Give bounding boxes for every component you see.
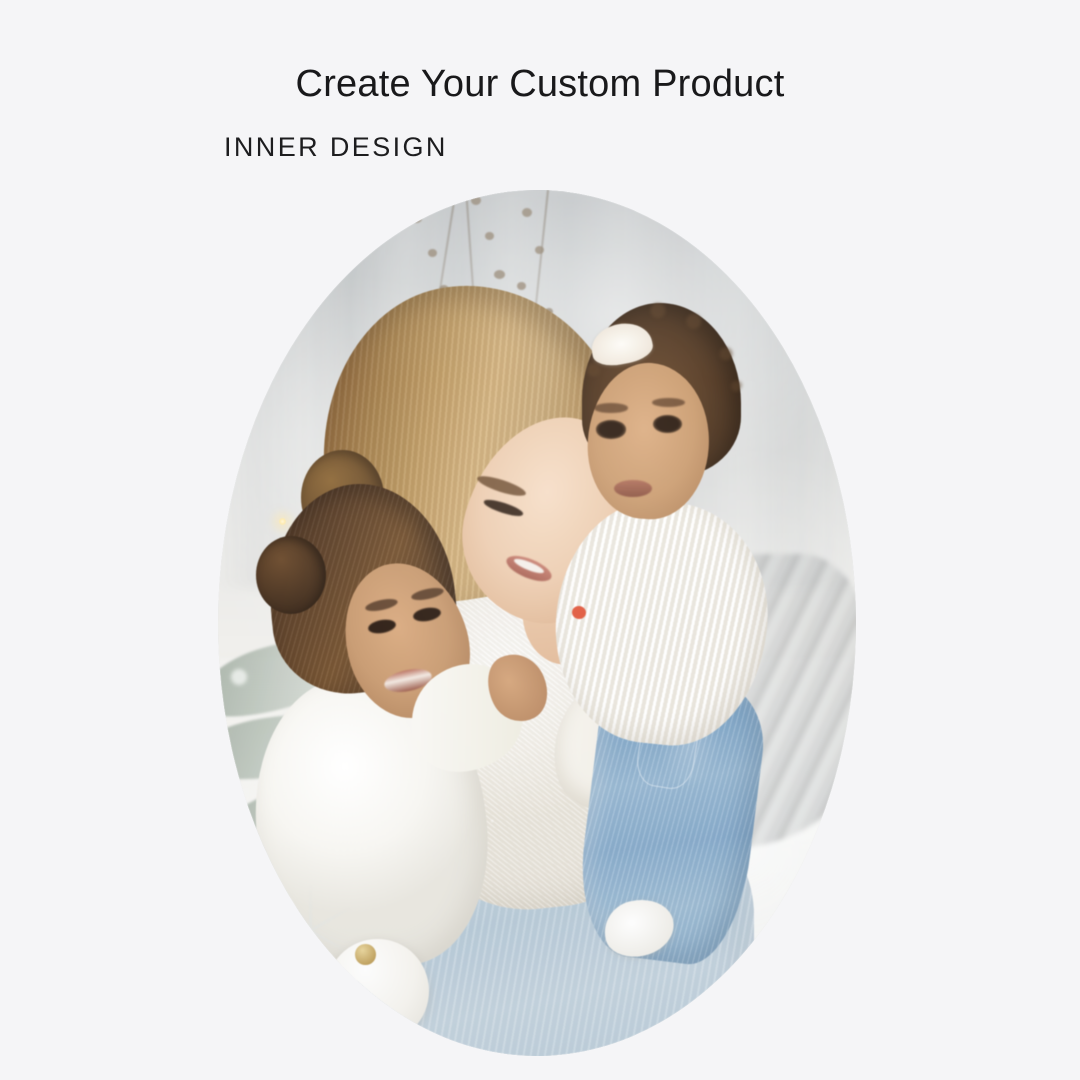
section-label-inner-design: INNER DESIGN: [224, 131, 448, 163]
baby-eye-left: [596, 420, 625, 438]
photo-scene: [218, 190, 856, 1056]
product-photo-preview[interactable]: [218, 190, 856, 1056]
bauble-gold-cap: [355, 944, 375, 965]
page-title: Create Your Custom Product: [0, 62, 1080, 106]
baby-eyebrow-left: [594, 403, 627, 413]
white-bauble-ornament: [326, 939, 428, 1043]
product-customizer-preview-page: Create Your Custom Product INNER DESIGN: [0, 0, 1080, 1080]
